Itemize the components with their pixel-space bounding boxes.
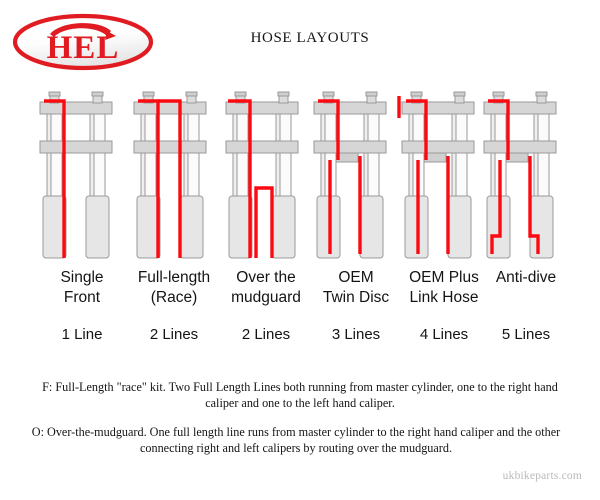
caption-line-1: Single bbox=[30, 268, 134, 288]
fork-oem-twin-disc-diagram-icon bbox=[308, 88, 404, 268]
hose-layouts-page: HEL HOSE LAYOUTS bbox=[0, 0, 600, 500]
caption-line-1: Anti-dive bbox=[474, 268, 578, 288]
fork-diagram-anti-dive bbox=[478, 88, 574, 268]
count-anti-dive: 5 Lines bbox=[474, 326, 578, 343]
caption-line-2: (Race) bbox=[122, 288, 226, 308]
count-over-the-mudguard: 2 Lines bbox=[214, 326, 318, 343]
caption-over-the-mudguard: Over the mudguard bbox=[214, 268, 318, 308]
caption-line-1: Over the bbox=[214, 268, 318, 288]
caption-line-1: Full-length bbox=[122, 268, 226, 288]
count-single-front: 1 Line bbox=[30, 326, 134, 343]
fork-diagram-full-length-race bbox=[128, 88, 224, 268]
caption-single-front: Single Front bbox=[30, 268, 134, 308]
notes-block: F: Full-Length "race" kit. Two Full Leng… bbox=[38, 380, 562, 470]
fork-anti-dive-diagram-icon bbox=[478, 88, 574, 268]
caption-line-2: Link Hose bbox=[392, 288, 496, 308]
fork-diagram-over-the-mudguard bbox=[220, 88, 316, 268]
hel-oval-logo-icon: HEL bbox=[8, 12, 158, 72]
note-over-the-mudguard: O: Over-the-mudguard. One full length li… bbox=[18, 425, 574, 456]
fork-single-front-diagram-icon bbox=[34, 88, 130, 268]
layout-line-counts: 1 Line 2 Lines 2 Lines 3 Lines 4 Lines 5… bbox=[0, 326, 600, 354]
note-full-length: F: Full-Length "race" kit. Two Full Leng… bbox=[38, 380, 562, 411]
fork-over-the-mudguard-diagram-icon bbox=[220, 88, 316, 268]
page-title: HOSE LAYOUTS bbox=[200, 30, 420, 47]
fork-full-length-race-diagram-icon bbox=[128, 88, 224, 268]
count-full-length-race: 2 Lines bbox=[122, 326, 226, 343]
hel-logo: HEL bbox=[8, 12, 158, 72]
fork-diagram-strip bbox=[0, 88, 600, 268]
layout-captions: Single Front Full-length (Race) Over the… bbox=[0, 268, 600, 328]
fork-diagram-single-front bbox=[34, 88, 130, 268]
fork-diagram-oem-twin-disc bbox=[308, 88, 404, 268]
caption-line-2: mudguard bbox=[214, 288, 318, 308]
caption-full-length-race: Full-length (Race) bbox=[122, 268, 226, 308]
caption-line-2: Front bbox=[30, 288, 134, 308]
watermark: ukbikeparts.com bbox=[503, 470, 582, 482]
svg-text:HEL: HEL bbox=[47, 30, 120, 66]
caption-anti-dive: Anti-dive bbox=[474, 268, 578, 288]
